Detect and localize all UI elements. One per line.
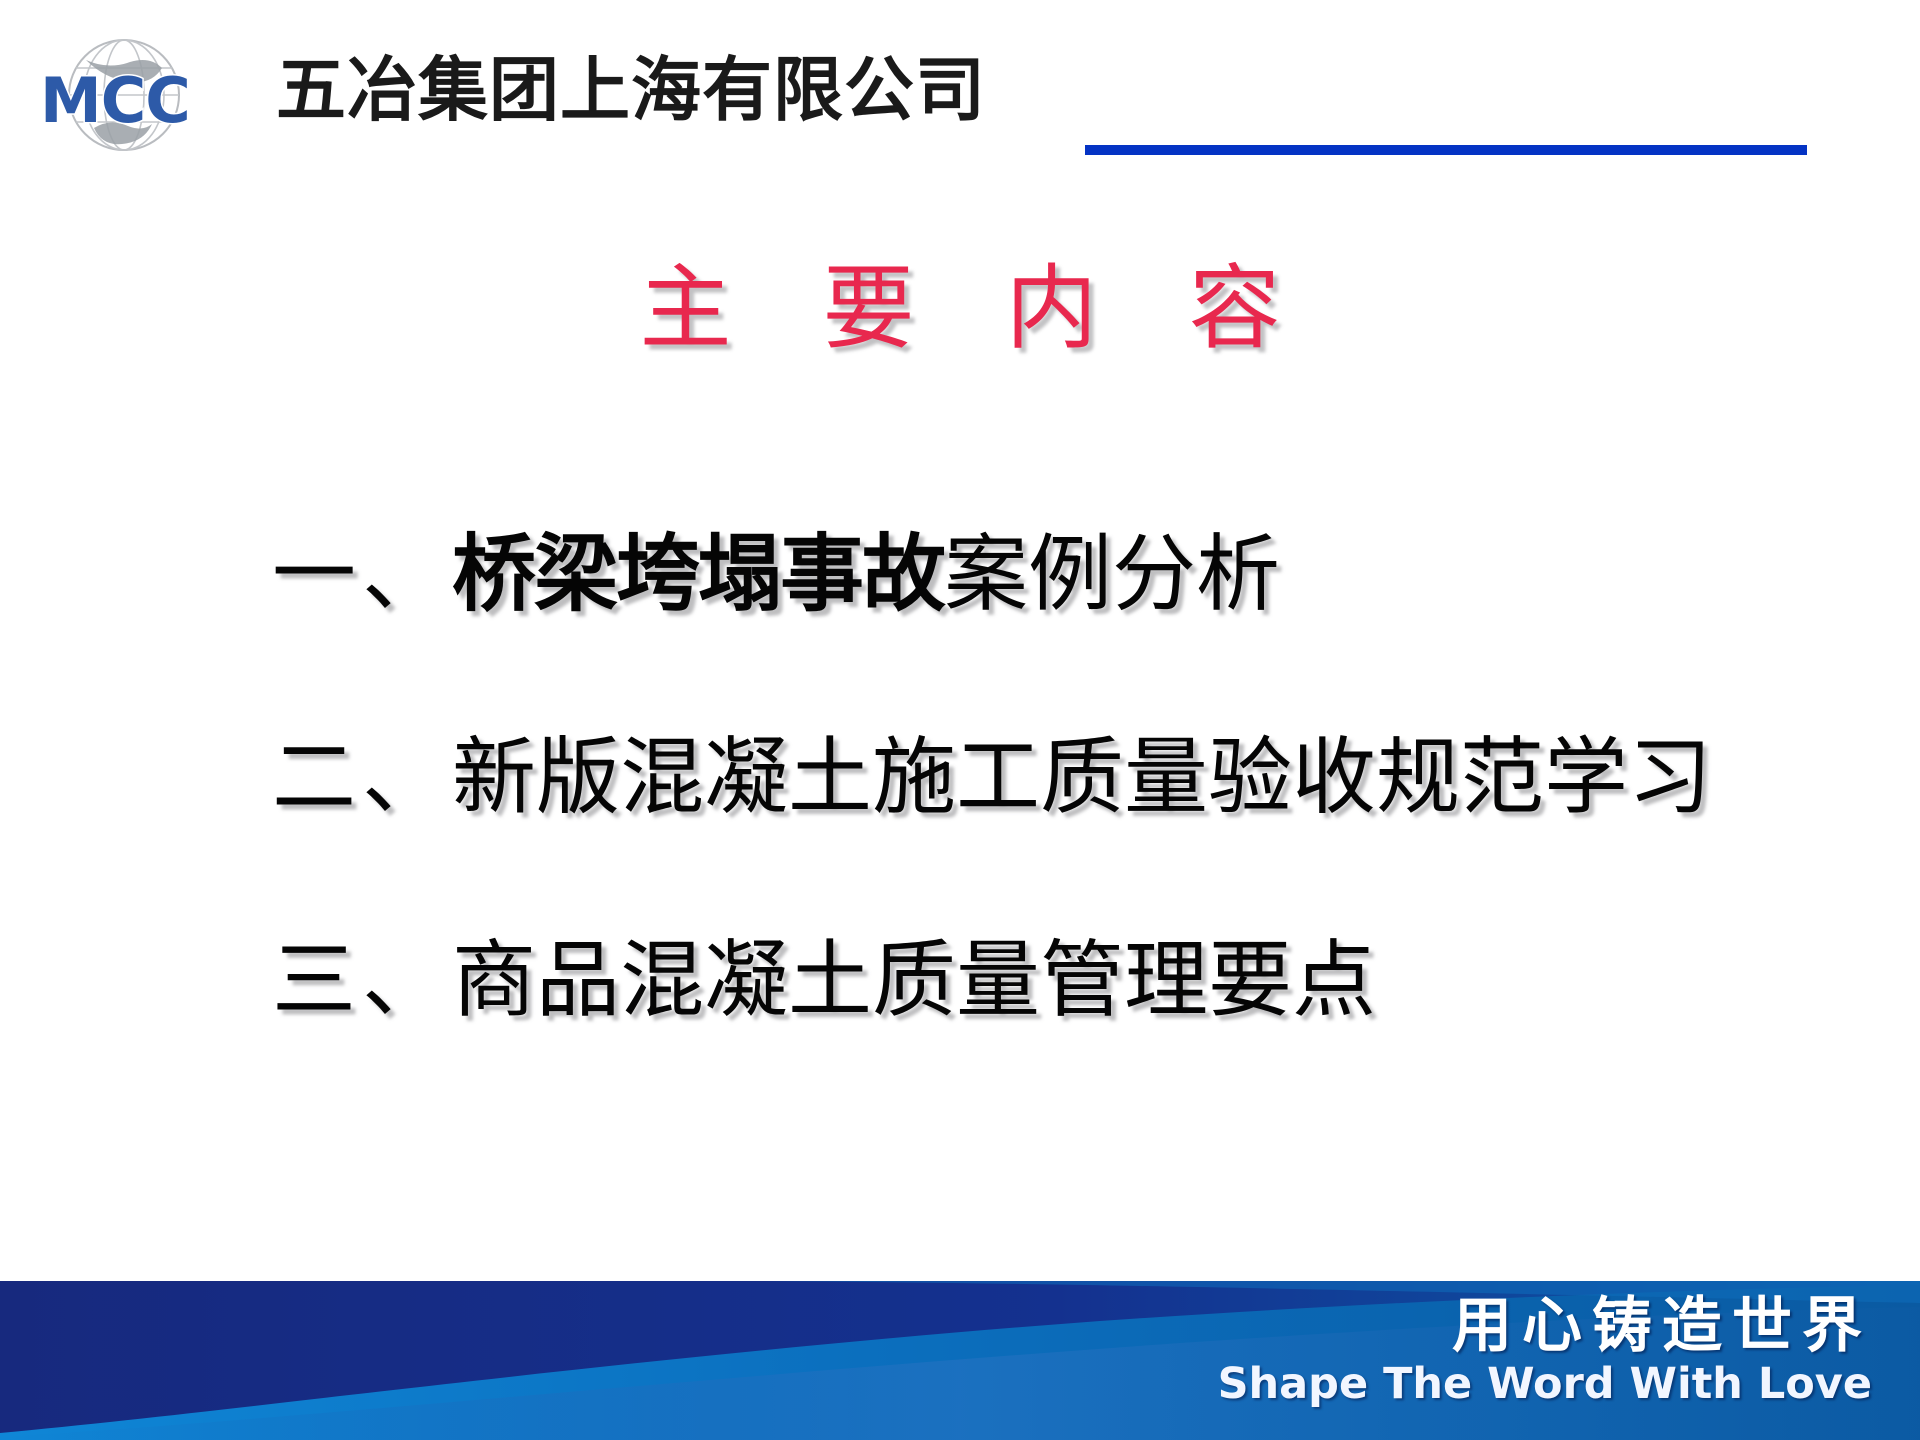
mcc-logo: MCC bbox=[34, 36, 214, 154]
list-item-text: 案例分析 bbox=[944, 529, 1280, 622]
list-item-text: 商品混凝土质量管理要点 bbox=[452, 935, 1376, 1028]
list-item-number: 一、 bbox=[272, 529, 452, 622]
list-item-emphasis: 桥梁垮塌事故 bbox=[452, 525, 944, 623]
list-item: 一、桥梁垮塌事故案例分析 bbox=[272, 525, 1872, 625]
svg-text:MCC: MCC bbox=[40, 64, 190, 137]
header-underline bbox=[1085, 145, 1807, 155]
list-item-number: 二、 bbox=[272, 732, 452, 825]
page-title: 主 要 内 容 bbox=[0, 258, 1920, 361]
footer-slogan-cn: 用心铸造世界 bbox=[1218, 1295, 1872, 1358]
slide-footer: 用心铸造世界 Shape The Word With Love bbox=[0, 1281, 1920, 1440]
footer-slogan-en: Shape The Word With Love bbox=[1218, 1362, 1872, 1407]
list-item: 二、新版混凝土施工质量验收规范学习 bbox=[272, 729, 1872, 828]
list-item: 三、商品混凝土质量管理要点 bbox=[272, 932, 1872, 1031]
presentation-slide: MCC 五冶集团上海有限公司 主 要 内 容 一、桥梁垮塌事故案例分析 二、新版… bbox=[0, 0, 1920, 1440]
list-item-text: 新版混凝土施工质量验收规范学习 bbox=[452, 732, 1712, 825]
footer-slogan: 用心铸造世界 Shape The Word With Love bbox=[1218, 1295, 1872, 1407]
slide-header: MCC 五冶集团上海有限公司 bbox=[0, 0, 1920, 180]
list-item-number: 三、 bbox=[272, 935, 452, 1028]
agenda-list: 一、桥梁垮塌事故案例分析 二、新版混凝土施工质量验收规范学习 三、商品混凝土质量… bbox=[272, 525, 1872, 1031]
mcc-wordmark: MCC bbox=[40, 64, 190, 137]
company-name: 五冶集团上海有限公司 bbox=[276, 54, 986, 128]
